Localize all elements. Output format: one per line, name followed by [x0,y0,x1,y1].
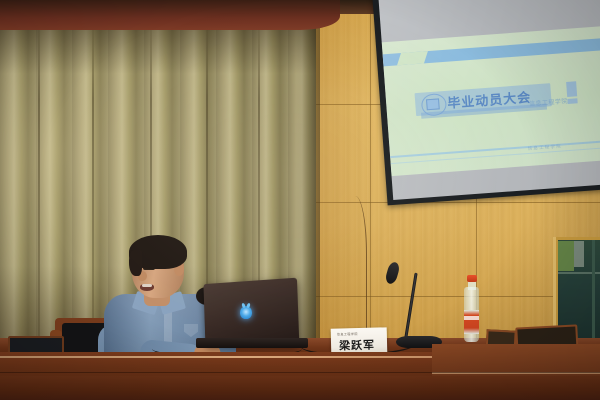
name-placard-name: 梁跃军 [339,337,375,354]
curtain-edge-shadow [296,10,320,365]
curtain-fold [92,10,94,365]
door-foliage-reflection [558,241,574,271]
slide-exclamation-bar [566,82,577,97]
alienware-head-icon [240,306,252,319]
desk-panel-seam [0,372,600,373]
slide-subtitle: 信息工程学院 [529,96,569,108]
slide-exclamation-dot [567,98,578,104]
presentation-slide: 毕业动员大会 信息工程学院 信息工程学院 [382,26,600,176]
slide-band-notch [397,51,428,65]
name-placard-affiliation: 信息工程学院 [337,331,358,337]
presenter-hair-sideburn [129,250,142,276]
door-window-light [574,241,584,267]
water-bottle-label [464,310,479,334]
water-bottle-label-stripe [464,316,479,320]
presenter-teeth [142,284,152,287]
projection-screen-surface: 毕业动员大会 信息工程学院 信息工程学院 [378,0,600,200]
curtain-fold [38,10,40,365]
door-mullion [592,240,595,344]
water-bottle-cap [467,275,477,282]
curtain-valance [0,0,340,30]
auditorium-photo: 毕业动员大会 信息工程学院 信息工程学院 [0,0,600,400]
book-glyph-icon [426,98,440,110]
wall-cable [338,196,367,342]
projection-screen[interactable]: 毕业动员大会 信息工程学院 信息工程学院 [372,0,600,205]
desk-lower-panel [0,376,600,400]
